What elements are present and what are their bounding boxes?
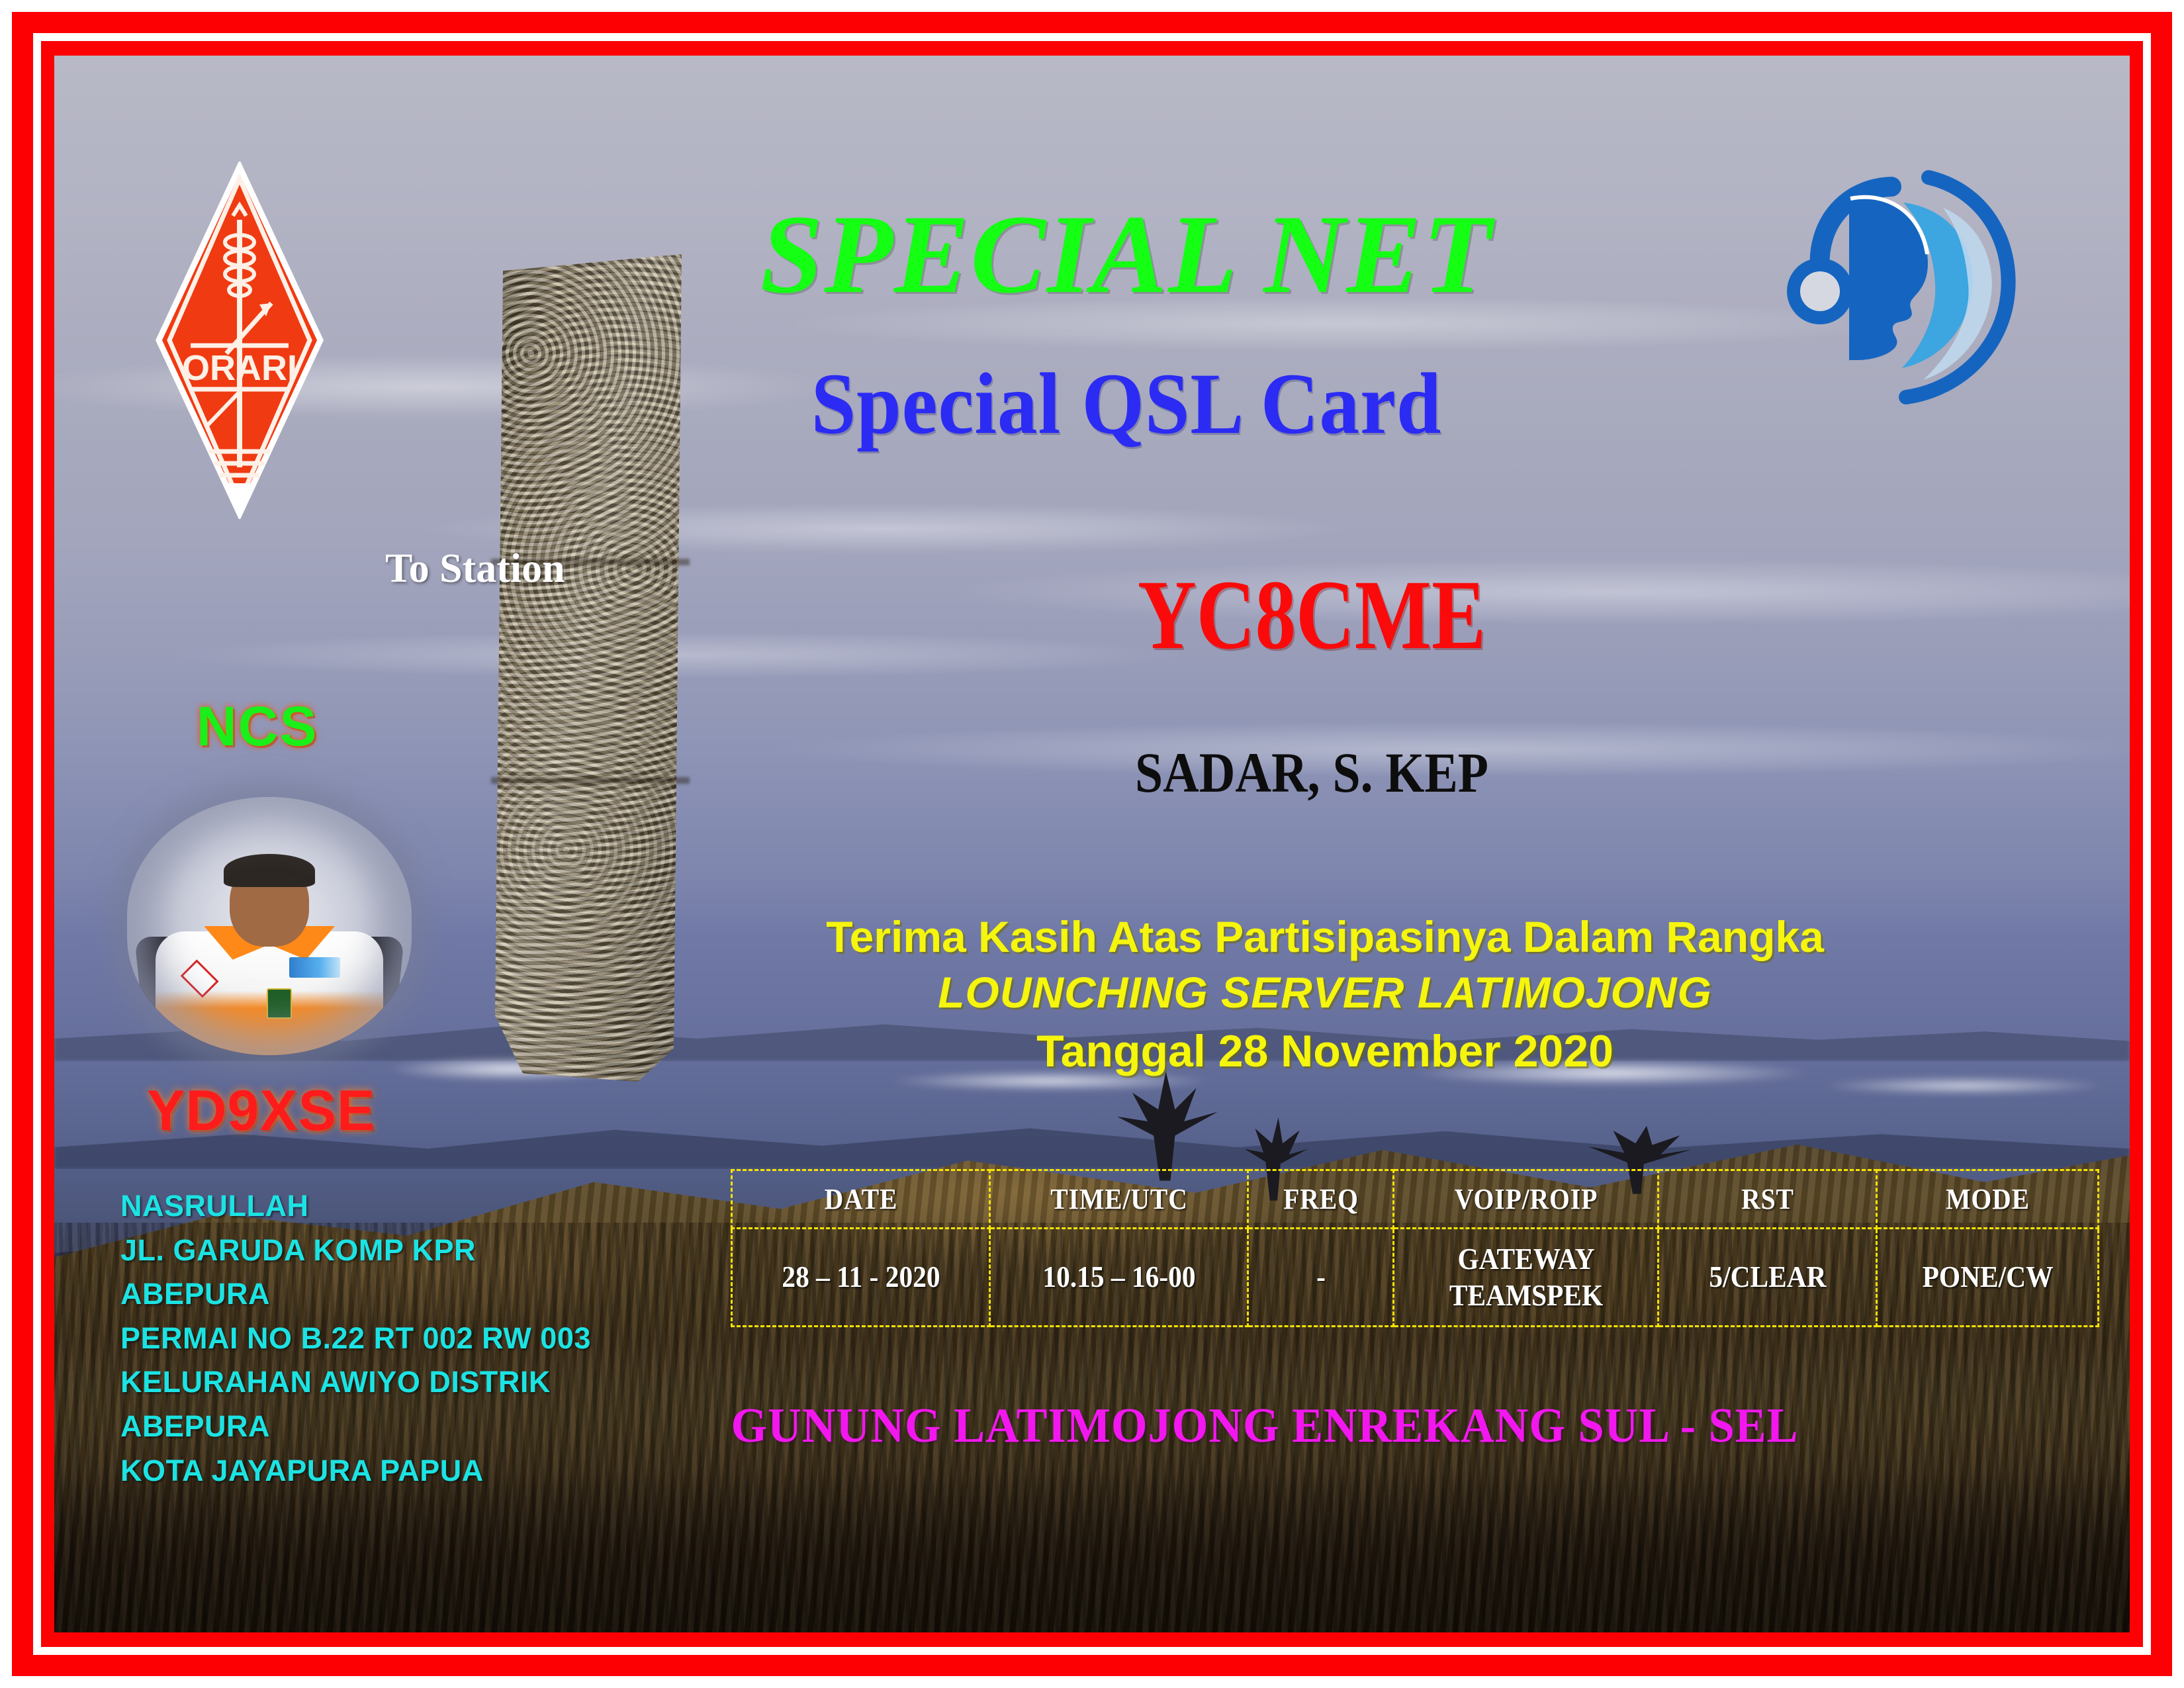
- thanks-line-3: Tanggal 28 November 2020: [756, 1021, 1894, 1083]
- photo-vignette: [127, 797, 412, 1055]
- operator-photo: [127, 797, 412, 1055]
- ncs-callsign: YD9XSE: [147, 1078, 375, 1144]
- cell-rst: 5/CLEAR: [1669, 1229, 1866, 1327]
- location-line: GUNUNG LATIMOJONG ENREKANG SUL - SEL: [731, 1398, 1798, 1454]
- page-subtitle: Special QSL Card: [529, 360, 1723, 447]
- qsl-card: ORARI: [0, 0, 2184, 1688]
- address-block: NASRULLAH JL. GARUDA KOMP KPR ABEPURA PE…: [120, 1184, 591, 1493]
- cell-time: 10.15 – 16-00: [1003, 1229, 1235, 1327]
- to-station-label: To Station: [385, 545, 565, 592]
- column-header-freq: FREQ: [1255, 1170, 1387, 1229]
- cell-freq: -: [1255, 1229, 1387, 1327]
- column-header-rst: RST: [1669, 1170, 1866, 1229]
- cell-mode: PONE/CW: [1888, 1229, 2087, 1327]
- cell-voip-line-1: GATEWAY: [1408, 1241, 1644, 1277]
- address-line: NASRULLAH: [120, 1184, 591, 1229]
- ncs-label: NCS: [197, 694, 318, 759]
- cell-date: 28 – 11 - 2020: [745, 1229, 977, 1327]
- column-header-date: DATE: [745, 1170, 977, 1229]
- card-photo-frame: ORARI: [54, 56, 2130, 1632]
- address-line: PERMAI NO B.22 RT 002 RW 003: [120, 1317, 591, 1361]
- radio-headset-logo: [1766, 162, 2017, 413]
- address-line: ABEPURA: [120, 1272, 591, 1317]
- page-title: SPECIAL NET: [478, 198, 1775, 310]
- cell-voip: GATEWAY TEAMSPEK: [1407, 1229, 1645, 1327]
- address-line: KELURAHAN AWIYO DISTRIK: [120, 1360, 591, 1405]
- operator-name: SADAR, S. KEP: [974, 744, 1650, 801]
- table-row: 28 – 11 - 2020 10.15 – 16-00 - GATEWAY T…: [732, 1229, 2099, 1327]
- motto-text: "AMATIR RADIO ADALAH PROGRESIVE": [134, 1623, 1043, 1632]
- column-header-mode: MODE: [1888, 1170, 2087, 1229]
- table-header-row: DATE TIME/UTC FREQ VOIP/ROIP RST MODE: [732, 1170, 2099, 1229]
- cell-voip-line-2: TEAMSPEK: [1408, 1278, 1644, 1313]
- thanks-line-1: Terima Kasih Atas Partisipasinya Dalam R…: [756, 910, 1894, 964]
- orari-logo: ORARI: [154, 162, 326, 519]
- column-header-time: TIME/UTC: [1003, 1170, 1235, 1229]
- thanks-block: Terima Kasih Atas Partisipasinya Dalam R…: [756, 910, 1894, 1082]
- address-line: JL. GARUDA KOMP KPR: [120, 1229, 591, 1273]
- station-callsign: YC8CME: [997, 565, 1626, 665]
- orari-logo-text: ORARI: [182, 348, 297, 388]
- qso-log-table: DATE TIME/UTC FREQ VOIP/ROIP RST MODE 28…: [731, 1169, 2099, 1327]
- address-line: ABEPURA: [120, 1405, 591, 1449]
- website-address: Address : amatir.latimojong.com: [1315, 1623, 1905, 1632]
- thanks-line-2: LOUNCHING SERVER LATIMOJONG: [756, 964, 1894, 1020]
- column-header-voip: VOIP/ROIP: [1407, 1170, 1645, 1229]
- address-line: KOTA JAYAPURA PAPUA: [120, 1449, 591, 1493]
